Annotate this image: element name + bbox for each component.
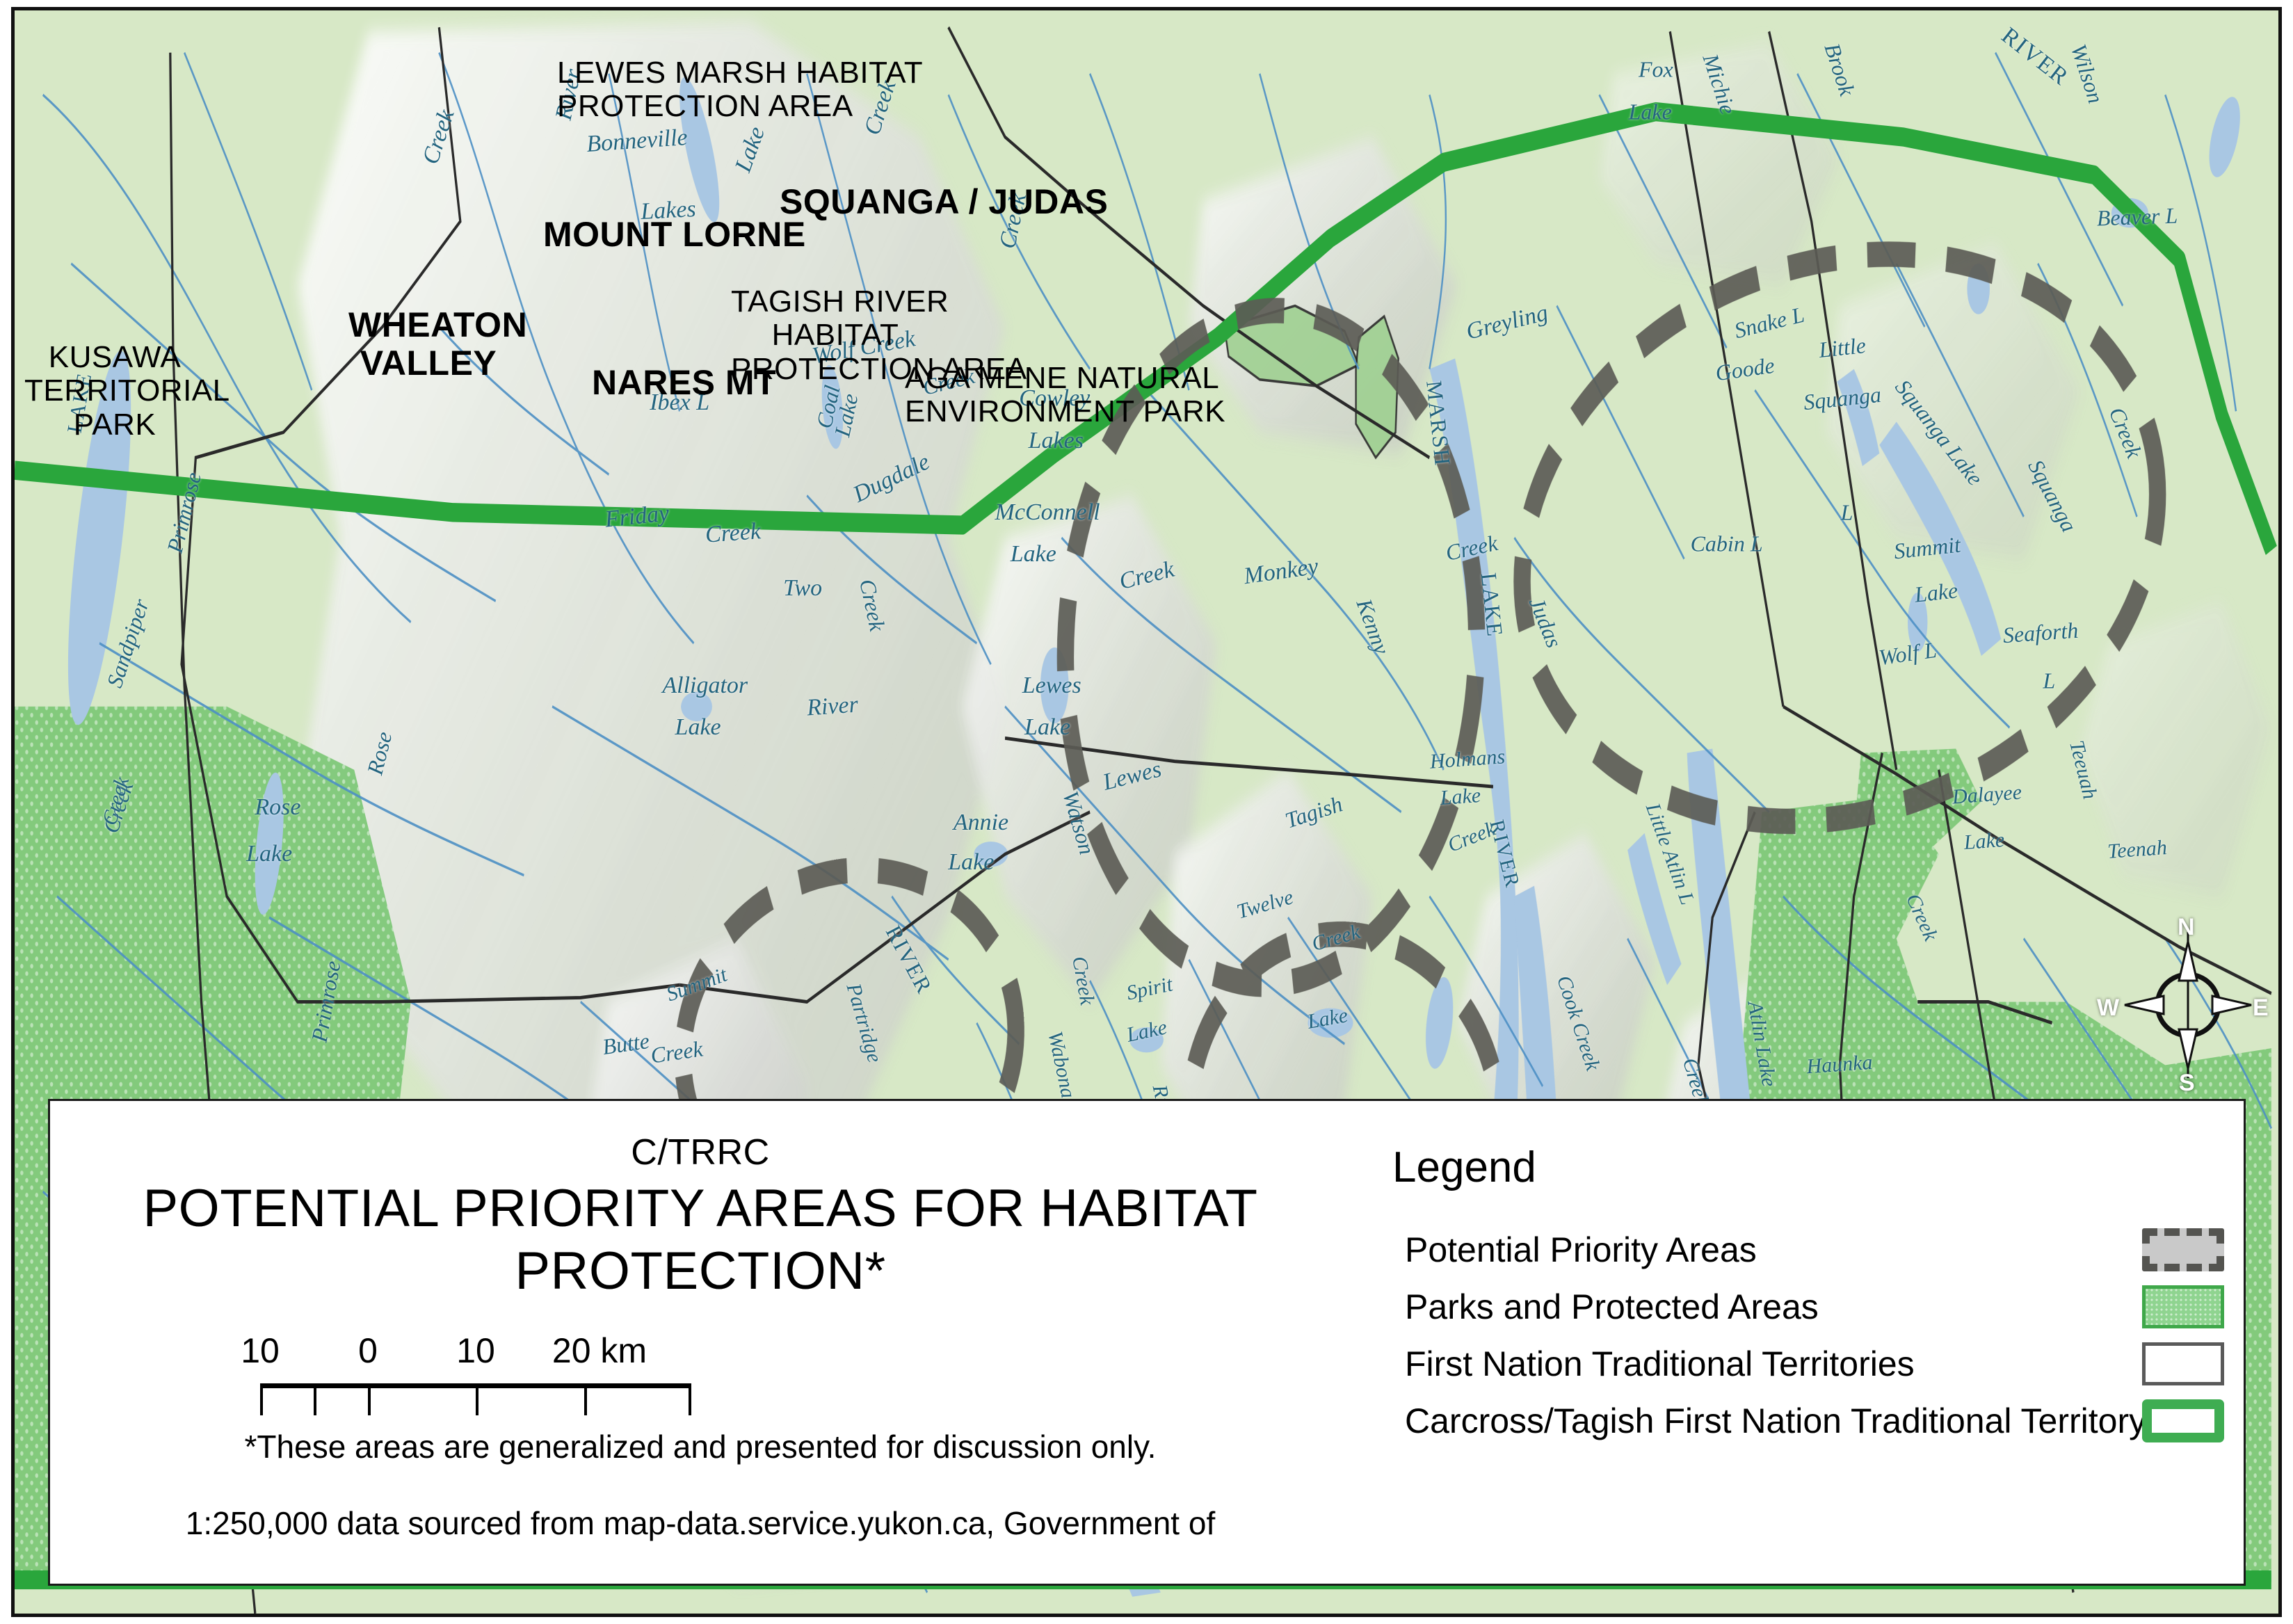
scale-tick-2 [368, 1383, 371, 1415]
scale-bar-labels: 10 0 10 20 km [210, 1330, 725, 1371]
legend-item-first-nation-traditional-territories[interactable]: First Nation Traditional Territories [1392, 1335, 2227, 1392]
legend-swatch-first-nation-traditional-territories [2142, 1342, 2224, 1385]
scale-label-0: 10 [241, 1330, 280, 1371]
legend-swatch-carcross-tagish-first-nation-traditional-territory [2142, 1399, 2224, 1442]
scale-label-2: 10 [456, 1330, 495, 1371]
map-page: LEWES MARSH HABITATPROTECTION AREA TAGIS… [0, 0, 2293, 1624]
legend-item-potential-priority-areas[interactable]: Potential Priority Areas [1392, 1221, 2227, 1278]
legend-item-parks-and-protected-areas[interactable]: Parks and Protected Areas [1392, 1278, 2227, 1335]
legend: Legend Potential Priority Areas Parks an… [1392, 1143, 2227, 1546]
map-frame: LEWES MARSH HABITATPROTECTION AREA TAGIS… [11, 7, 2282, 1617]
compass-icon [2115, 932, 2261, 1078]
scale-label-3: 20 km [552, 1330, 647, 1371]
compass-south-label: S [2179, 1070, 2195, 1097]
legend-label-potential-priority-areas: Potential Priority Areas [1392, 1230, 1757, 1270]
legend-title: Legend [1392, 1143, 2227, 1192]
legend-item-carcross-tagish-first-nation-traditional-territory[interactable]: Carcross/Tagish First Nation Traditional… [1392, 1392, 2227, 1449]
legend-label-carcross-tagish-first-nation-traditional-territory: Carcross/Tagish First Nation Traditional… [1392, 1401, 2146, 1441]
scale-label-1: 0 [358, 1330, 378, 1371]
scale-tick-3 [476, 1383, 478, 1415]
compass-west-label: W [2097, 995, 2119, 1022]
agency-label: C/TRRC [50, 1132, 1351, 1173]
title-block: C/TRRC POTENTIAL PRIORITY AREAS FOR HABI… [48, 1099, 2246, 1586]
legend-swatch-potential-priority-areas [2142, 1228, 2224, 1271]
scale-bar-graphic [260, 1383, 691, 1420]
scale-tick-0 [260, 1383, 263, 1415]
legend-label-parks-and-protected-areas: Parks and Protected Areas [1392, 1287, 1819, 1327]
legend-swatch-parks-and-protected-areas [2142, 1285, 2224, 1328]
title-block-left: C/TRRC POTENTIAL PRIORITY AREAS FOR HABI… [50, 1101, 1351, 1584]
compass-north-label: N [2178, 914, 2195, 941]
legend-label-first-nation-traditional-territories: First Nation Traditional Territories [1392, 1344, 1915, 1384]
data-source-text: 1:250,000 data sourced from map-data.ser… [50, 1504, 1351, 1542]
compass-rose: N S E W [2115, 932, 2261, 1078]
scale-tick-1 [314, 1383, 316, 1415]
scale-tick-4 [584, 1383, 587, 1415]
map-title: POTENTIAL PRIORITY AREAS FOR HABITAT PRO… [50, 1177, 1351, 1302]
compass-east-label: E [2253, 995, 2269, 1022]
scale-tick-5 [689, 1383, 691, 1415]
footnote-text: *These areas are generalized and present… [50, 1428, 1351, 1465]
scale-bar: 10 0 10 20 km [210, 1330, 725, 1420]
